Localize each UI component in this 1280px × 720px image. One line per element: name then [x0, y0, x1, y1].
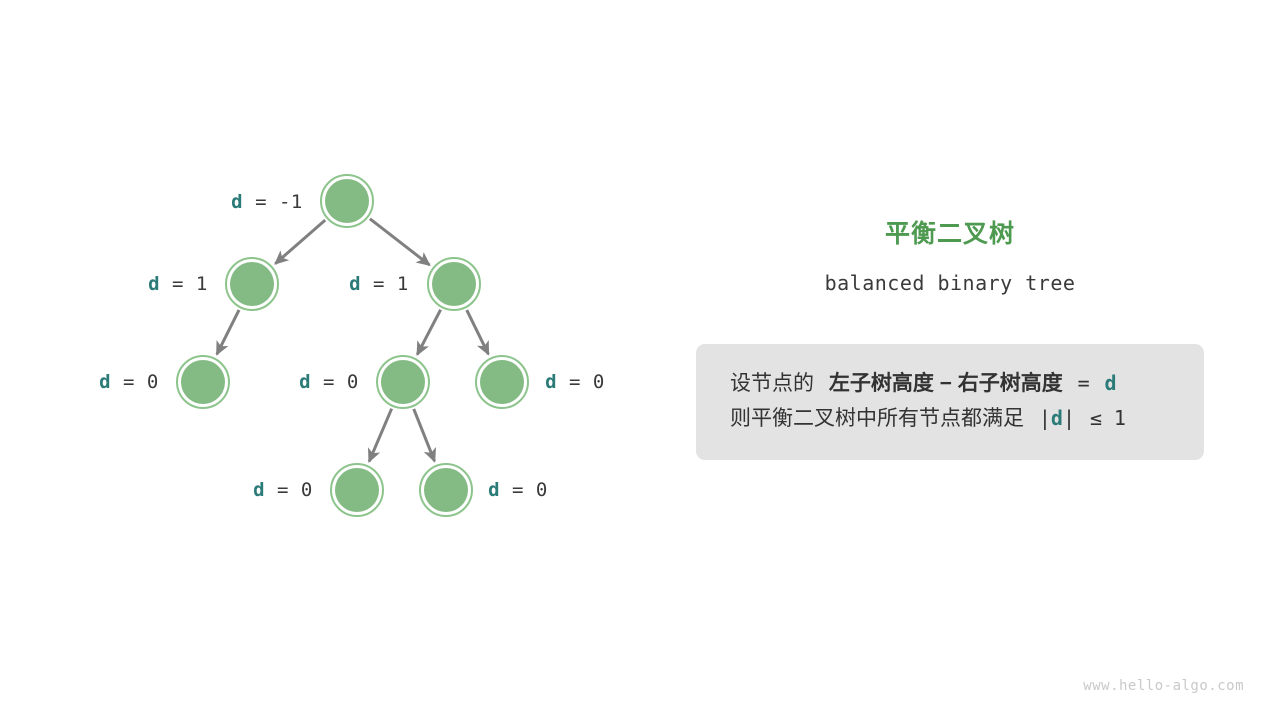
condition-variable-d: d [1051, 406, 1063, 430]
balance-variable-d: d [148, 273, 160, 295]
tree-node-disc [230, 262, 274, 306]
diagram-canvas: d = -1d = 1d = 1d = 0d = 0d = 0d = 0d = … [0, 0, 1280, 720]
tree-edge [275, 220, 325, 264]
tree-edge [467, 310, 489, 354]
info-panel: 平衡二叉树 balanced binary tree 设节点的 左子树高度 − … [696, 222, 1204, 460]
balance-value: = 0 [557, 371, 605, 393]
page-subtitle: balanced binary tree [696, 271, 1204, 295]
balance-variable-d: d [349, 273, 361, 295]
tree-edge [369, 409, 391, 462]
tree-edge [217, 310, 239, 354]
node-balance-label: d = 0 [299, 371, 359, 393]
definition-line-1: 设节点的 左子树高度 − 右子树高度 = d [730, 366, 1178, 401]
balance-value: = 0 [265, 479, 313, 501]
definition-formula: 左子树高度 − 右子树高度 [829, 372, 1063, 395]
abs-open-bar: | [1039, 406, 1051, 430]
node-balance-label: d = 1 [349, 273, 409, 295]
definition-equals: = [1078, 371, 1090, 395]
balance-variable-d: d [253, 479, 265, 501]
tree-node[interactable] [476, 356, 528, 408]
node-balance-label: d = 0 [99, 371, 159, 393]
tree-node-disc [381, 360, 425, 404]
tree-node-disc [335, 468, 379, 512]
site-watermark: www.hello-algo.com [1083, 678, 1244, 694]
node-balance-label: d = 0 [545, 371, 605, 393]
tree-node-disc [325, 179, 369, 223]
balance-value: = 1 [160, 273, 208, 295]
balance-value: = -1 [243, 191, 303, 213]
tree-edge-layer [217, 219, 489, 462]
node-balance-label: d = 1 [148, 273, 208, 295]
definition-box: 设节点的 左子树高度 − 右子树高度 = d 则平衡二叉树中所有节点都满足 |d… [696, 344, 1204, 460]
tree-node[interactable] [420, 464, 472, 516]
tree-edge [370, 219, 430, 265]
tree-edge [417, 310, 440, 355]
tree-node[interactable] [377, 356, 429, 408]
tree-node[interactable] [428, 258, 480, 310]
node-balance-label: d = 0 [488, 479, 548, 501]
tree-node[interactable] [321, 175, 373, 227]
tree-node-disc [181, 360, 225, 404]
balance-variable-d: d [99, 371, 111, 393]
page-title: 平衡二叉树 [696, 222, 1204, 247]
tree-node-disc [432, 262, 476, 306]
definition-line-2: 则平衡二叉树中所有节点都满足 |d| ≤ 1 [730, 401, 1178, 436]
balance-variable-d: d [545, 371, 557, 393]
tree-node[interactable] [177, 356, 229, 408]
definition-prefix: 设节点的 [730, 372, 814, 395]
balance-variable-d: d [231, 191, 243, 213]
node-balance-label: d = -1 [231, 191, 303, 213]
tree-node-disc [480, 360, 524, 404]
condition-prefix: 则平衡二叉树中所有节点都满足 [730, 407, 1024, 430]
balance-value: = 0 [111, 371, 159, 393]
condition-relation: ≤ 1 [1090, 406, 1126, 430]
definition-variable-d: d [1105, 371, 1117, 395]
balance-variable-d: d [488, 479, 500, 501]
tree-edge [414, 409, 435, 461]
balance-variable-d: d [299, 371, 311, 393]
balance-value: = 1 [361, 273, 409, 295]
node-balance-label: d = 0 [253, 479, 313, 501]
abs-close-bar: | [1063, 406, 1075, 430]
tree-node[interactable] [226, 258, 278, 310]
balance-value: = 0 [500, 479, 548, 501]
tree-node[interactable] [331, 464, 383, 516]
tree-node-disc [424, 468, 468, 512]
tree-node-layer [177, 175, 528, 516]
balance-value: = 0 [311, 371, 359, 393]
binary-tree-diagram [0, 0, 680, 620]
